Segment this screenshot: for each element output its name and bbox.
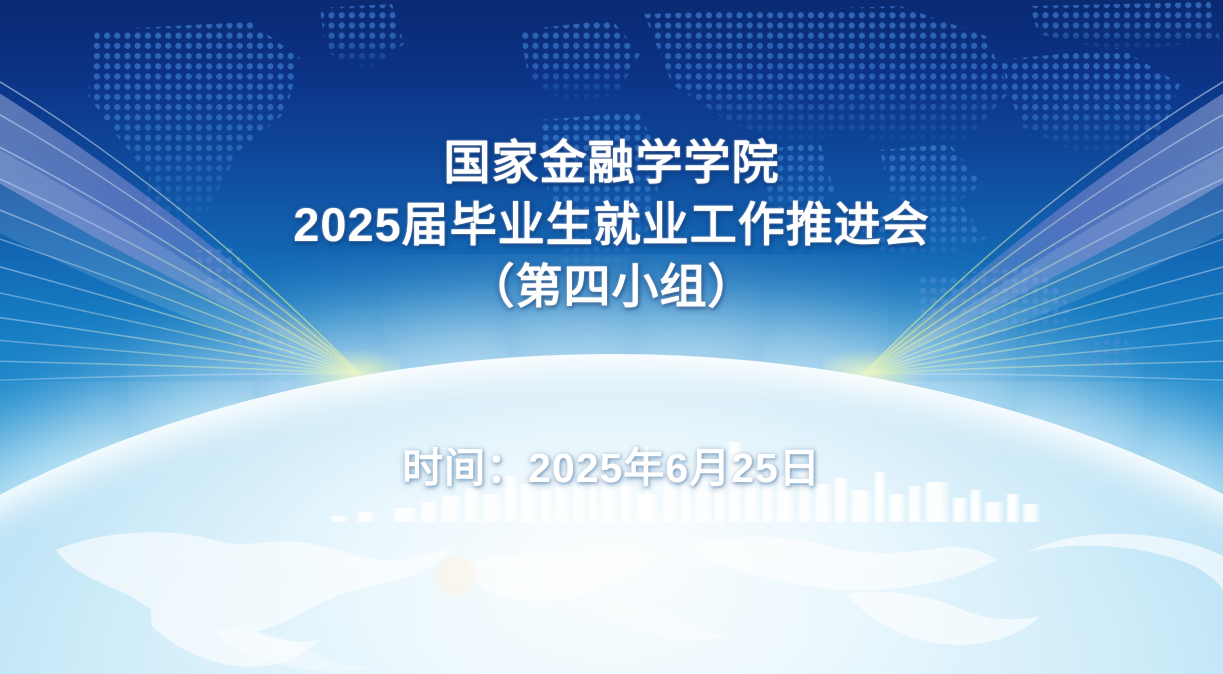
title-block: 国家金融学学院 2025届毕业生就业工作推进会 （第四小组）	[0, 132, 1223, 318]
globe-graphic	[0, 354, 1223, 674]
date-label: 时间：2025年6月25日	[0, 434, 1223, 494]
globe-rim-highlight	[0, 354, 1223, 674]
title-line-3: （第四小组）	[0, 256, 1223, 318]
title-line-1: 国家金融学学院	[0, 132, 1223, 194]
title-line-2: 2025届毕业生就业工作推进会	[0, 194, 1223, 256]
slide-canvas: 国家金融学学院 2025届毕业生就业工作推进会 （第四小组） 时间：2025年6…	[0, 0, 1223, 674]
glow-dot	[432, 552, 480, 600]
